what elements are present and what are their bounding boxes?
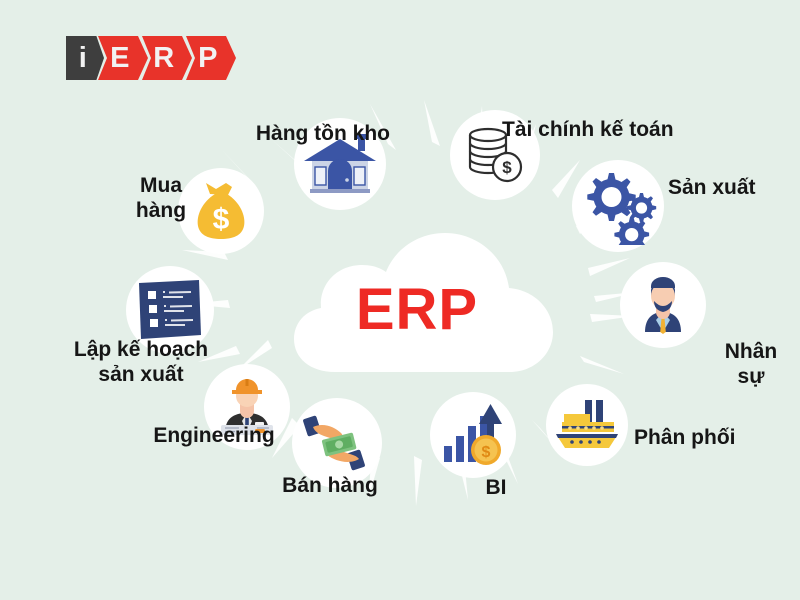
node-engineering-label: Engineering [114,424,314,449]
node-lap-ke-hoach-san-xuat[interactable]: Lập kế hoạch sản xuất [126,266,336,396]
cargo-ship-icon [552,396,622,454]
logo-segment-r: R [142,36,192,80]
checklist-clipboard-icon [135,277,205,343]
ierp-logo: i E R P [66,36,236,80]
node-tai-chinh-ke-toan-label: Tài chính kế toán [502,118,732,143]
node-phan-phoi[interactable]: Phân phối [546,384,766,484]
logo-segment-i: i [66,36,104,80]
node-mua-hang-label: Mua hàng [76,174,246,224]
node-san-xuat[interactable]: Sản xuất [572,160,792,260]
node-hang-ton-kho-label: Hàng tồn kho [190,122,390,147]
svg-text:$: $ [502,158,512,177]
node-ban-hang-label: Bán hàng [250,474,410,499]
node-bi-label: BI [466,476,526,501]
node-san-xuat-label: Sản xuất [668,176,800,201]
logo-segment-e-text: E [110,44,130,73]
businessman-avatar-icon [632,274,694,336]
node-mua-hang[interactable]: $ Mua hàng [178,168,358,278]
node-nhan-su-label: Nhân sự [696,340,800,390]
logo-segment-i-text: i [79,44,88,73]
node-nhan-su-bubble [620,262,706,348]
erp-diagram-canvas: i E R P [0,0,800,600]
node-nhan-su[interactable]: Nhân sự [620,262,790,382]
logo-segment-p-text: P [198,44,218,73]
gears-icon [575,167,661,245]
logo-segment-p: P [186,36,236,80]
logo-segment-r-text: R [153,44,174,73]
svg-text:$: $ [482,444,491,461]
node-lap-ke-hoach-label: Lập kế hoạch sản xuất [36,338,246,388]
logo-segment-e: E [98,36,148,80]
node-san-xuat-bubble [572,160,664,252]
node-phan-phoi-label: Phân phối [634,426,800,451]
